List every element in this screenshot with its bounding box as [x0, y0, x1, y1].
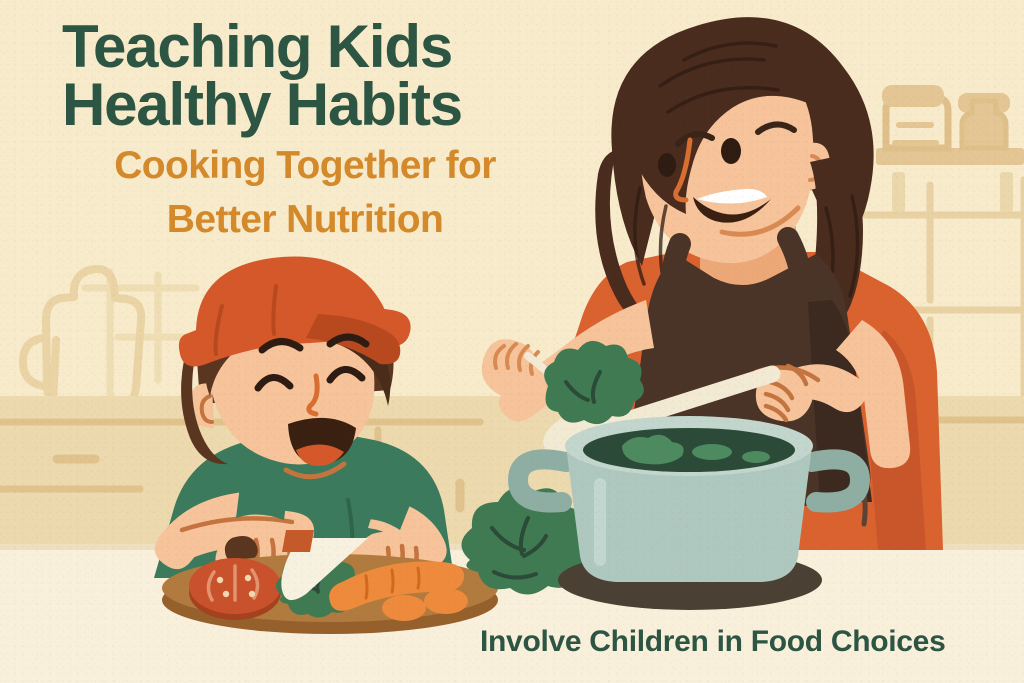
pot-soup	[583, 428, 795, 472]
pot-handle-right	[812, 459, 860, 502]
pot-handle-left	[518, 459, 566, 502]
cooking-pot-layer	[0, 0, 1024, 683]
pot-highlight	[594, 478, 606, 566]
poster-illustration: Teaching Kids Healthy Habits Cooking Tog…	[0, 0, 1024, 683]
soup-floret-3	[742, 451, 770, 463]
soup-floret-2	[692, 444, 732, 460]
